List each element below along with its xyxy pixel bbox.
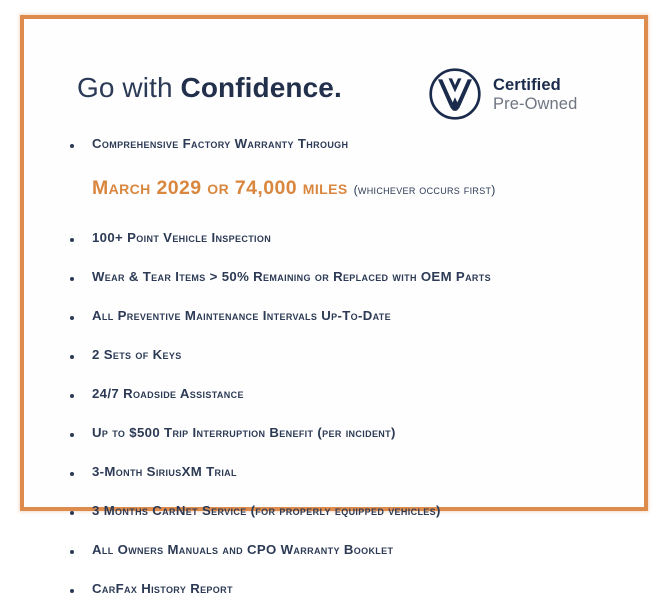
preowned-label: Pre-Owned <box>493 95 577 113</box>
bullet-dot-icon <box>70 589 74 593</box>
page-title: Go with Confidence. <box>77 72 342 104</box>
list-spacer <box>24 296 644 307</box>
cpo-flyer-card: Go with Confidence. <box>20 15 648 511</box>
list-item: All Preventive Maintenance Intervals Up-… <box>24 307 644 335</box>
warranty-note-text: (whichever occurs first) <box>354 183 496 197</box>
warranty-term-text: March 2029 or 74,000 miles <box>92 177 348 199</box>
list-item: All Owners Manuals and CPO Warranty Book… <box>24 541 644 569</box>
list-spacer <box>24 413 644 424</box>
list-item: 100+ Point Vehicle Inspection <box>24 229 644 257</box>
flyer-content-area: Go with Confidence. <box>24 19 644 507</box>
bullet-dot-icon <box>70 144 74 148</box>
list-item: 3-Month SiriusXM Trial <box>24 463 644 491</box>
list-item: CarFax History Report <box>24 580 644 608</box>
bullet-dot-icon <box>70 550 74 554</box>
list-spacer <box>24 257 644 268</box>
list-item: 2 Sets of Keys <box>24 346 644 374</box>
bullet-dot-icon <box>70 277 74 281</box>
list-spacer <box>24 218 644 229</box>
warranty-headline-row: March 2029 or 74,000 miles(whichever occ… <box>24 177 644 200</box>
vw-logo-icon <box>428 67 482 121</box>
list-item-label: Up to $500 Trip Interruption Benefit (pe… <box>92 424 396 442</box>
bullet-dot-icon <box>70 355 74 359</box>
bullet-dot-icon <box>70 394 74 398</box>
bullet-dot-icon <box>70 238 74 242</box>
list-item-label: Wear & Tear Items > 50% Remaining or Rep… <box>92 268 491 286</box>
page-title-light: Go with <box>77 72 181 103</box>
flyer-header: Go with Confidence. <box>24 45 644 123</box>
benefits-list: Comprehensive Factory Warranty Through M… <box>24 135 644 608</box>
list-spacer <box>24 335 644 346</box>
bullet-dot-icon <box>70 472 74 476</box>
list-item: 24/7 Roadside Assistance <box>24 385 644 413</box>
list-item-warranty: Comprehensive Factory Warranty Through <box>24 135 644 163</box>
list-item: Up to $500 Trip Interruption Benefit (pe… <box>24 424 644 452</box>
list-item-label: All Owners Manuals and CPO Warranty Book… <box>92 541 393 559</box>
list-item-label: 3-Month SiriusXM Trial <box>92 463 237 481</box>
bullet-dot-icon <box>70 433 74 437</box>
list-item-label: All Preventive Maintenance Intervals Up-… <box>92 307 391 325</box>
vw-certified-preowned-lockup: Certified Pre-Owned <box>428 67 577 121</box>
list-spacer <box>24 530 644 541</box>
list-item-label: 100+ Point Vehicle Inspection <box>92 229 271 247</box>
list-spacer <box>24 374 644 385</box>
list-item-label: 24/7 Roadside Assistance <box>92 385 244 403</box>
list-item: Wear & Tear Items > 50% Remaining or Rep… <box>24 268 644 296</box>
list-spacer <box>24 491 644 502</box>
warranty-lead-text: Comprehensive Factory Warranty Through <box>92 135 348 153</box>
list-item: 3 Months CarNet Service (for properly eq… <box>24 502 644 530</box>
cpo-wordmark: Certified Pre-Owned <box>493 75 577 113</box>
list-spacer <box>24 569 644 580</box>
bullet-dot-icon <box>70 511 74 515</box>
certified-label: Certified <box>493 76 577 94</box>
list-item-label: 2 Sets of Keys <box>92 346 182 364</box>
list-spacer <box>24 452 644 463</box>
list-item-label: CarFax History Report <box>92 580 233 598</box>
list-item-label: 3 Months CarNet Service (for properly eq… <box>92 502 441 520</box>
page-title-bold: Confidence. <box>181 72 342 103</box>
bullet-dot-icon <box>70 316 74 320</box>
